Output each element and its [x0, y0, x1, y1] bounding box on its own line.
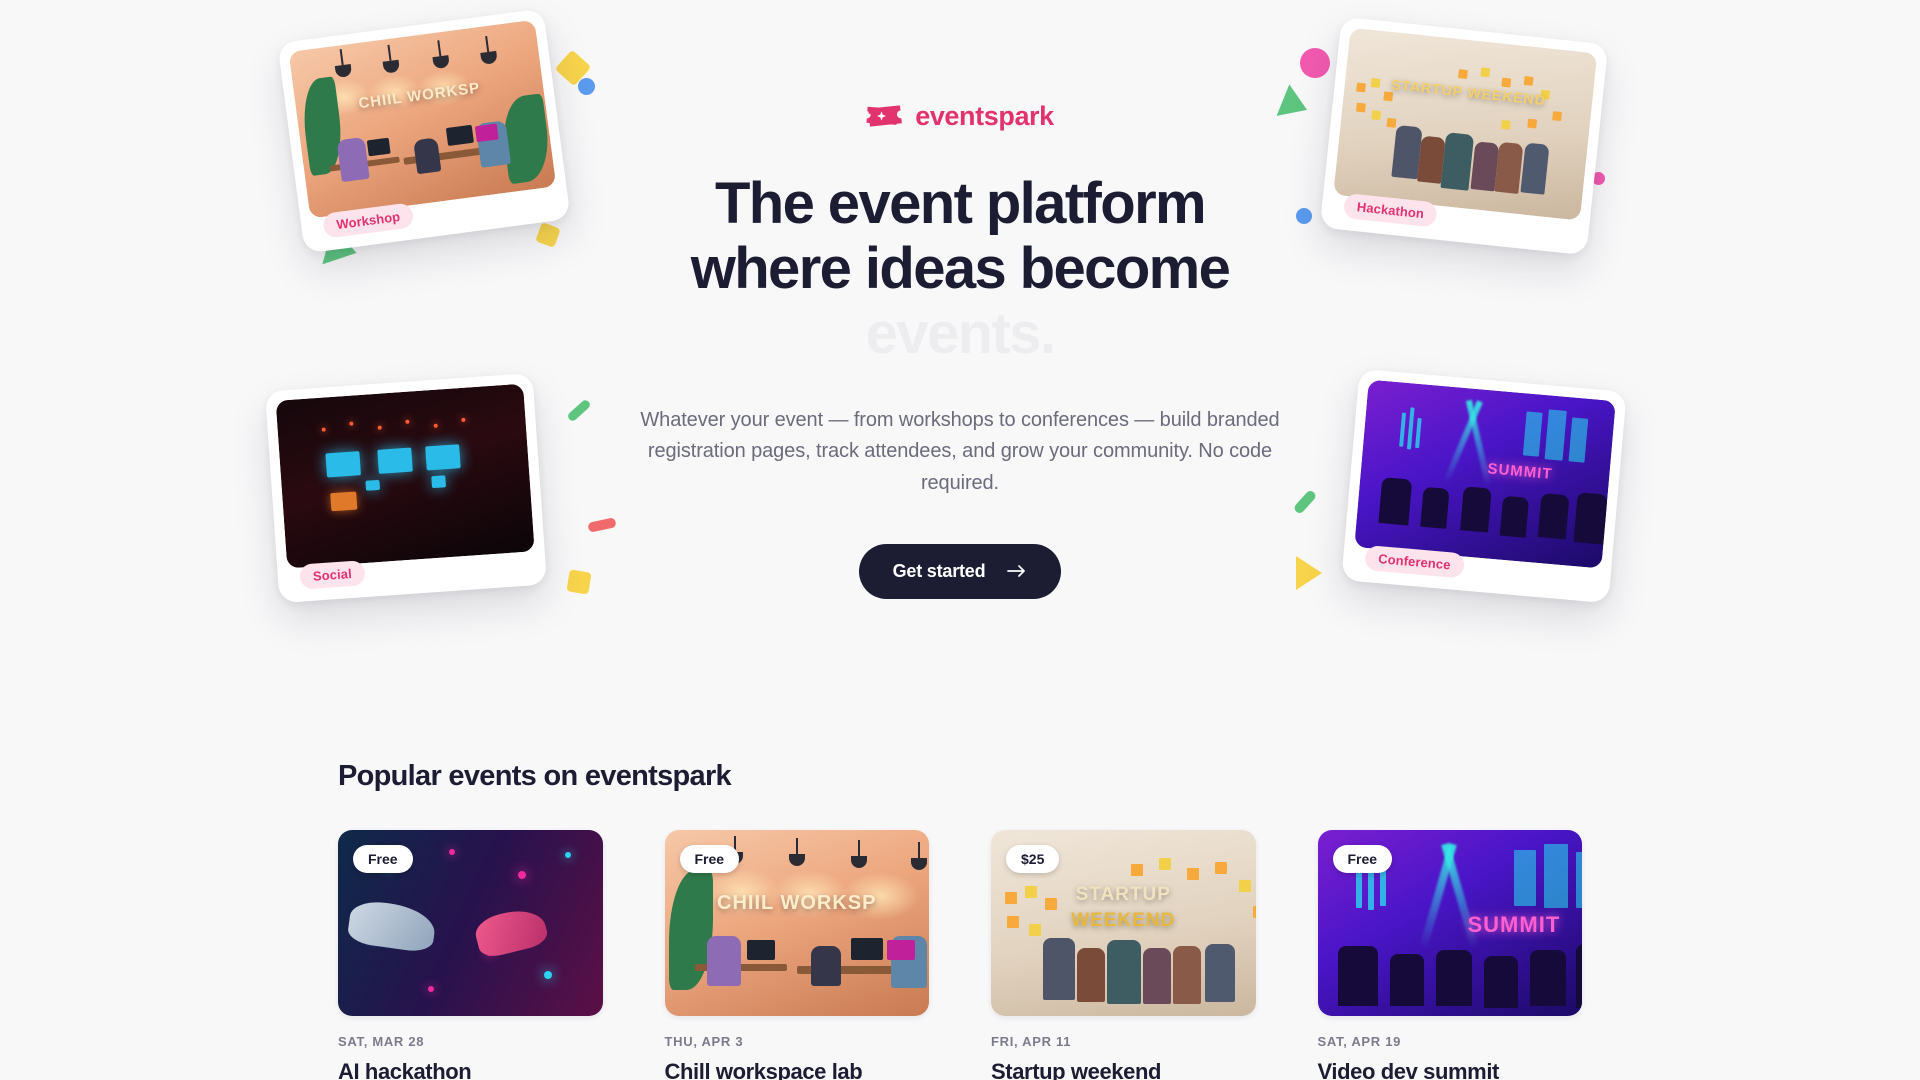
- event-title: Startup weekend: [991, 1058, 1256, 1080]
- event-thumbnail: $25 STARTUP WEEKEND: [991, 830, 1256, 1016]
- popular-events-title: Popular events on eventspark: [338, 760, 1582, 793]
- confetti-dot-magenta: [1300, 48, 1330, 78]
- event-card[interactable]: $25 STARTUP WEEKEND: [991, 830, 1256, 1080]
- hero-content: eventspark The event platform where idea…: [610, 96, 1310, 599]
- arrow-right-icon: [1007, 564, 1027, 578]
- brand-name: eventspark: [915, 103, 1054, 130]
- hero-section: CHIIL WORKSP Workshop: [0, 0, 1920, 760]
- brand-logo[interactable]: eventspark: [610, 96, 1310, 136]
- confetti-square-yellow-2: [535, 222, 561, 248]
- hero-card-conference-image-text: SUMMIT: [1487, 460, 1553, 483]
- ticket-icon: [866, 103, 904, 129]
- get-started-button[interactable]: Get started: [859, 544, 1062, 599]
- get-started-label: Get started: [893, 561, 986, 582]
- confetti-square-yellow-3: [566, 569, 591, 594]
- confetti-dot-blue: [578, 78, 595, 95]
- confetti-bar-green: [566, 398, 591, 422]
- event-price-badge: Free: [680, 845, 740, 873]
- hero-subcopy: Whatever your event — from workshops to …: [610, 405, 1310, 500]
- hero-card-conference[interactable]: SUMMIT Conference: [1341, 369, 1626, 604]
- hero-card-conference-thumb: SUMMIT: [1354, 380, 1616, 569]
- event-grid: Free SAT, MAR 28 AI hackathon: [338, 830, 1582, 1080]
- event-price-badge: Free: [1333, 845, 1393, 873]
- event-title: Video dev summit: [1318, 1058, 1583, 1080]
- event-image-text-2: WEEKEND: [991, 910, 1256, 932]
- event-thumbnail: Free SUMMIT: [1318, 830, 1583, 1016]
- event-title: AI hackathon: [338, 1058, 603, 1080]
- event-date: THU, APR 3: [665, 1034, 930, 1049]
- event-price-badge: $25: [1006, 845, 1059, 873]
- event-date: SAT, MAR 28: [338, 1034, 603, 1049]
- popular-events-section: Popular events on eventspark Free: [0, 760, 1920, 1080]
- hero-card-hackathon-image-text: STARTUP WEEKEND: [1344, 71, 1592, 113]
- event-thumbnail: Free: [338, 830, 603, 1016]
- hero-card-workshop-thumb: CHIIL WORKSP: [289, 20, 557, 219]
- hero-card-workshop[interactable]: CHIIL WORKSP Workshop: [277, 8, 570, 253]
- event-thumbnail: Free CHIIL WORKSP: [665, 830, 930, 1016]
- event-card[interactable]: Free SAT, MAR 28 AI hackathon: [338, 830, 603, 1080]
- hero-headline: The event platform where ideas become ev…: [610, 172, 1310, 367]
- hero-card-social-tag: Social: [299, 560, 365, 589]
- event-card[interactable]: Free SUMMIT: [1318, 830, 1583, 1080]
- event-date: FRI, APR 11: [991, 1034, 1256, 1049]
- event-image-text: SUMMIT: [1468, 912, 1561, 938]
- hero-card-hackathon-thumb: STARTUP WEEKEND: [1333, 28, 1597, 221]
- event-image-text: STARTUP: [991, 884, 1256, 906]
- event-date: SAT, APR 19: [1318, 1034, 1583, 1049]
- hero-headline-line-1: The event platform: [610, 172, 1310, 237]
- event-card[interactable]: Free CHIIL WORKSP: [665, 830, 930, 1080]
- event-title: Chill workspace lab: [665, 1058, 930, 1080]
- hero-card-social-thumb: [276, 384, 535, 569]
- event-price-badge: Free: [353, 845, 413, 873]
- hero-headline-line-3: events.: [610, 302, 1310, 367]
- hero-headline-line-2: where ideas become: [610, 237, 1310, 302]
- hero-card-social[interactable]: Social: [265, 373, 547, 603]
- hero-card-hackathon[interactable]: STARTUP WEEKEND Hackathon: [1320, 17, 1609, 256]
